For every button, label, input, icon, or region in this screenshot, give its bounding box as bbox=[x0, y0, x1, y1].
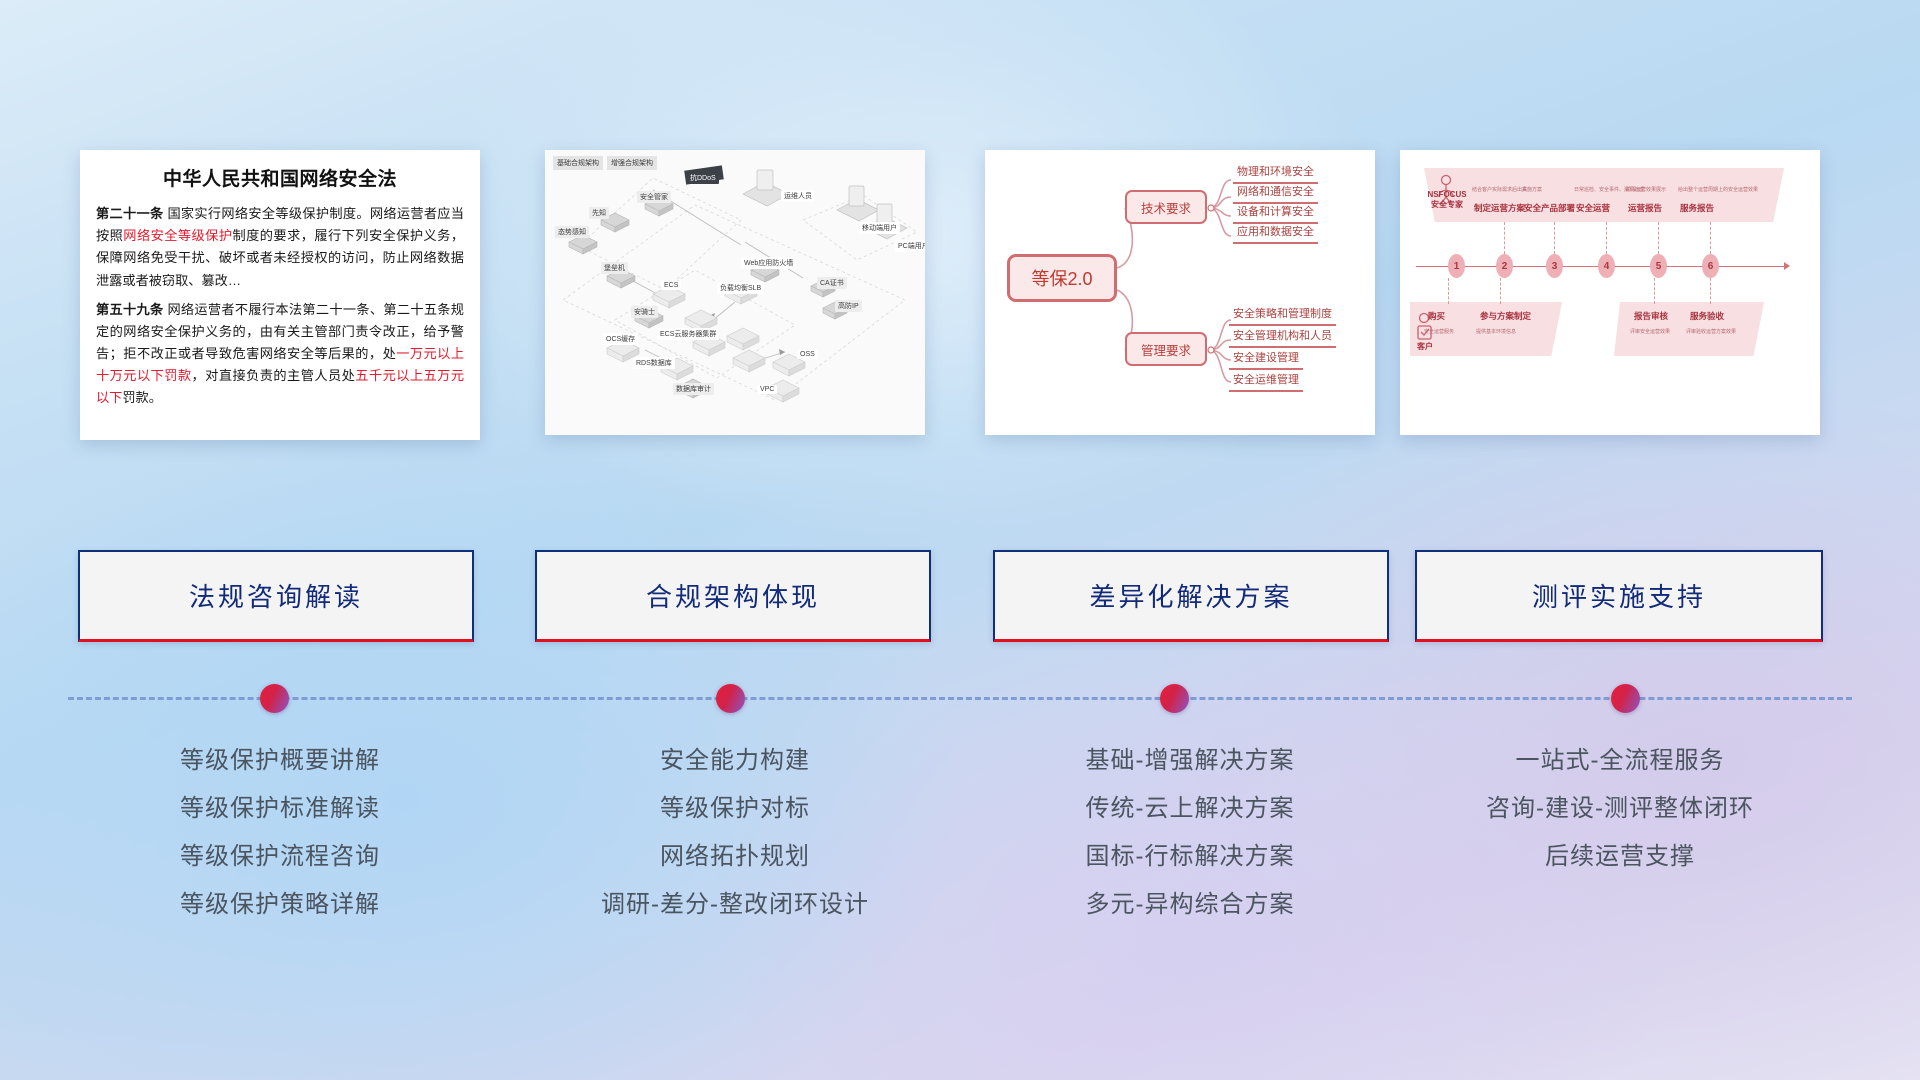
timeline-dot-1[interactable] bbox=[260, 684, 289, 713]
architecture-node-label[interactable]: 数据库审计 bbox=[673, 383, 714, 395]
detail-list-item[interactable]: 等级保护概要讲解 bbox=[80, 740, 480, 782]
detail-list-item[interactable]: 等级保护流程咨询 bbox=[80, 836, 480, 878]
detail-list-item[interactable]: 网络拓扑规划 bbox=[535, 836, 935, 878]
card-compliance-architecture[interactable]: 基础合规架构 增强合规架构 bbox=[545, 150, 925, 435]
card-dengbao-mindmap[interactable]: 等保2.0 技术要求 管理要求 物理和环境安全 网络和通信安全 设备和计算安全 … bbox=[985, 150, 1375, 435]
architecture-node-label[interactable]: 堡垒机 bbox=[601, 262, 628, 274]
tab-compliance-architecture[interactable]: 合规架构体现 bbox=[535, 550, 931, 642]
tab-label: 差异化解决方案 bbox=[1089, 577, 1292, 614]
detail-column-regulation: 等级保护概要讲解等级保护标准解读等级保护流程咨询等级保护策略详解 bbox=[80, 740, 480, 932]
detail-list-item[interactable]: 基础-增强解决方案 bbox=[980, 740, 1400, 782]
card-nsfocus-timeline[interactable]: NSFOCUS安全专家 客户 12制定运营方案结合客户实际需求后出具3安全产品部… bbox=[1400, 150, 1820, 435]
detail-column-solution: 基础-增强解决方案传统-云上解决方案国标-行标解决方案多元-异构综合方案 bbox=[980, 740, 1400, 932]
architecture-node-label[interactable]: ECS云服务器集群 bbox=[657, 328, 719, 340]
nsfocus-customer-step-subtitle: 评审验收运营方案效果 bbox=[1686, 328, 1736, 335]
nsfocus-customer-step-title: 报告审核 bbox=[1634, 310, 1668, 322]
nsfocus-step-dot[interactable]: 1 bbox=[1448, 254, 1465, 278]
mindmap-leaf[interactable]: 安全运维管理 bbox=[1229, 374, 1303, 392]
nsfocus-customer-step-title: 服务验收 bbox=[1690, 310, 1724, 322]
mindmap-branch-technical[interactable]: 技术要求 bbox=[1125, 190, 1207, 224]
architecture-node-label[interactable]: ECS bbox=[661, 281, 681, 290]
detail-list-item[interactable]: 等级保护对标 bbox=[535, 788, 935, 830]
nsfocus-step-tick bbox=[1504, 222, 1505, 254]
detail-list-item[interactable]: 多元-异构综合方案 bbox=[980, 884, 1400, 926]
nsfocus-step-title: 安全运营 bbox=[1576, 202, 1610, 214]
nsfocus-customer-step-tick bbox=[1710, 278, 1711, 304]
timeline-dashed-line bbox=[68, 697, 1852, 700]
architecture-node-label[interactable]: OSS bbox=[797, 350, 818, 359]
law-highlight-text: 网络安全等级保护 bbox=[123, 228, 232, 243]
nsfocus-step-tick bbox=[1606, 222, 1607, 254]
law-article-label: 第五十九条 bbox=[96, 302, 163, 317]
nsfocus-step-subtitle: 阶段运营效果展示 bbox=[1626, 186, 1666, 193]
nsfocus-step-dot[interactable]: 4 bbox=[1598, 254, 1615, 278]
nsfocus-step-title: 运营报告 bbox=[1628, 202, 1662, 214]
timeline-dot-2[interactable] bbox=[716, 684, 745, 713]
mindmap-leaf[interactable]: 应用和数据安全 bbox=[1233, 226, 1318, 244]
mindmap-leaf[interactable]: 安全建设管理 bbox=[1229, 352, 1303, 370]
expert-role-label: NSFOCUS安全专家 bbox=[1424, 190, 1470, 210]
architecture-node-label[interactable]: OCS缓存 bbox=[603, 333, 638, 345]
architecture-node-label[interactable]: 移动端用户 bbox=[859, 222, 900, 234]
architecture-node-label[interactable]: 先知 bbox=[589, 207, 609, 219]
nsfocus-step-title: 制定运营方案 bbox=[1474, 202, 1525, 214]
detail-list-item[interactable]: 一站式-全流程服务 bbox=[1410, 740, 1830, 782]
mindmap-leaf[interactable]: 网络和通信安全 bbox=[1233, 186, 1318, 204]
law-text: ，对直接负责的主管人员处 bbox=[192, 368, 356, 383]
nsfocus-step-tick bbox=[1658, 222, 1659, 254]
law-text: 罚款。 bbox=[122, 390, 162, 405]
law-title: 中华人民共和国网络安全法 bbox=[96, 164, 464, 191]
detail-column-architecture: 安全能力构建等级保护对标网络拓扑规划调研-差分-整改闭环设计 bbox=[535, 740, 935, 932]
nsfocus-step-title: 安全产品部署 bbox=[1524, 202, 1575, 214]
nsfocus-customer-step-tick bbox=[1500, 278, 1501, 304]
mindmap-leaf[interactable]: 安全管理机构和人员 bbox=[1229, 330, 1336, 348]
progress-timeline bbox=[0, 668, 1920, 708]
detail-list-item[interactable]: 安全能力构建 bbox=[535, 740, 935, 782]
tab-regulation-consulting[interactable]: 法规咨询解读 bbox=[78, 550, 474, 642]
nsfocus-step-dot[interactable]: 2 bbox=[1496, 254, 1513, 278]
nsfocus-customer-step-subtitle: 安全运营服务 bbox=[1424, 328, 1454, 335]
nsfocus-step-subtitle: 实施方案 bbox=[1522, 186, 1542, 193]
tab-label: 法规咨询解读 bbox=[189, 577, 363, 614]
detail-list-item[interactable]: 调研-差分-整改闭环设计 bbox=[535, 884, 935, 926]
tab-label: 测评实施支持 bbox=[1532, 577, 1706, 614]
mindmap-root-node[interactable]: 等保2.0 bbox=[1007, 254, 1117, 302]
expert-role-line: 安全专家 bbox=[1424, 200, 1470, 210]
architecture-node-label[interactable]: RDS数据库 bbox=[633, 357, 675, 369]
nsfocus-customer-step-title: 参与方案制定 bbox=[1480, 310, 1531, 322]
nsfocus-service-flow: NSFOCUS安全专家 客户 12制定运营方案结合客户实际需求后出具3安全产品部… bbox=[1400, 150, 1820, 435]
mindmap-leaf[interactable]: 安全策略和管理制度 bbox=[1229, 308, 1336, 326]
detail-list-item[interactable]: 等级保护标准解读 bbox=[80, 788, 480, 830]
architecture-diagram: 基础合规架构 增强合规架构 bbox=[545, 150, 925, 435]
mindmap-leaf[interactable]: 物理和环境安全 bbox=[1233, 166, 1318, 184]
detail-list-item[interactable]: 等级保护策略详解 bbox=[80, 884, 480, 926]
nsfocus-customer-step-subtitle: 提供基本环境信息 bbox=[1476, 328, 1516, 335]
detail-list-item[interactable]: 传统-云上解决方案 bbox=[980, 788, 1400, 830]
detail-list-item[interactable]: 国标-行标解决方案 bbox=[980, 836, 1400, 878]
timeline-dot-3[interactable] bbox=[1160, 684, 1189, 713]
service-tab-row: 法规咨询解读 合规架构体现 差异化解决方案 测评实施支持 bbox=[0, 550, 1920, 642]
mindmap: 等保2.0 技术要求 管理要求 物理和环境安全 网络和通信安全 设备和计算安全 … bbox=[985, 150, 1375, 435]
nsfocus-customer-step-subtitle: 评审安全运营效果 bbox=[1630, 328, 1670, 335]
timeline-dot-4[interactable] bbox=[1611, 684, 1640, 713]
card-cybersecurity-law[interactable]: 中华人民共和国网络安全法 第二十一条 国家实行网络安全等级保护制度。网络运营者应… bbox=[80, 150, 480, 440]
architecture-node-label[interactable]: 负载均衡SLB bbox=[717, 282, 764, 294]
nsfocus-customer-step-tick bbox=[1448, 278, 1449, 304]
architecture-node-label[interactable]: 高防IP bbox=[835, 300, 862, 312]
architecture-node-label[interactable]: PC端用户 bbox=[895, 240, 925, 252]
architecture-node-label[interactable]: 安全管家 bbox=[637, 191, 671, 203]
nsfocus-step-title: 服务报告 bbox=[1680, 202, 1714, 214]
mindmap-leaf[interactable]: 设备和计算安全 bbox=[1233, 206, 1318, 224]
law-article: 第二十一条 国家实行网络安全等级保护制度。网络运营者应当按照网络安全等级保护制度… bbox=[96, 203, 464, 292]
nsfocus-step-dot[interactable]: 3 bbox=[1546, 254, 1563, 278]
law-document: 中华人民共和国网络安全法 第二十一条 国家实行网络安全等级保护制度。网络运营者应… bbox=[80, 150, 480, 425]
nsfocus-step-subtitle: 结合客户实际需求后出具 bbox=[1472, 186, 1527, 193]
tab-differentiated-solution[interactable]: 差异化解决方案 bbox=[993, 550, 1389, 642]
nsfocus-customer-step-tick bbox=[1654, 278, 1655, 304]
architecture-node-label[interactable]: 抗DDoS bbox=[687, 172, 719, 184]
nsfocus-step-tick bbox=[1554, 222, 1555, 254]
nsfocus-customer-step-title: 购买 bbox=[1428, 310, 1445, 322]
architecture-node-label[interactable]: 态势感知 bbox=[555, 226, 589, 238]
mindmap-branch-management[interactable]: 管理要求 bbox=[1125, 332, 1207, 366]
law-article-label: 第二十一条 bbox=[96, 206, 163, 221]
detail-list-item[interactable]: 咨询-建设-测评整体闭环 bbox=[1410, 788, 1830, 830]
architecture-node-label[interactable]: VPC bbox=[757, 385, 777, 394]
nsfocus-step-dot[interactable]: 6 bbox=[1702, 254, 1719, 278]
law-article: 第五十九条 网络运营者不履行本法第二十一条、第二十五条规定的网络安全保护义务的，… bbox=[96, 299, 464, 410]
detail-list-item[interactable]: 后续运营支撑 bbox=[1410, 836, 1830, 878]
nsfocus-step-subtitle: 给出整个运营周期上的安全运营效果 bbox=[1678, 186, 1758, 193]
slide-canvas: 中华人民共和国网络安全法 第二十一条 国家实行网络安全等级保护制度。网络运营者应… bbox=[0, 0, 1920, 1080]
tab-assessment-support[interactable]: 测评实施支持 bbox=[1415, 550, 1823, 642]
architecture-node-label[interactable]: 运维人员 bbox=[781, 190, 815, 202]
architecture-node-label[interactable]: 安骑士 bbox=[631, 306, 658, 318]
law-body: 第二十一条 国家实行网络安全等级保护制度。网络运营者应当按照网络安全等级保护制度… bbox=[96, 203, 464, 410]
tab-label: 合规架构体现 bbox=[646, 577, 820, 614]
architecture-node-label[interactable]: CA证书 bbox=[817, 277, 847, 289]
architecture-node-label[interactable]: Web应用防火墙 bbox=[741, 257, 796, 269]
detail-column-assessment: 一站式-全流程服务咨询-建设-测评整体闭环后续运营支撑 bbox=[1410, 740, 1830, 884]
expert-role-line: NSFOCUS bbox=[1424, 190, 1470, 200]
service-detail-lists: 等级保护概要讲解等级保护标准解读等级保护流程咨询等级保护策略详解 安全能力构建等… bbox=[0, 740, 1920, 990]
timeline-arrow-icon bbox=[1784, 262, 1790, 270]
nsfocus-step-tick bbox=[1710, 222, 1711, 254]
nsfocus-step-dot[interactable]: 5 bbox=[1650, 254, 1667, 278]
customer-role-label: 客户 bbox=[1410, 342, 1440, 352]
preview-cards-row: 中华人民共和国网络安全法 第二十一条 国家实行网络安全等级保护制度。网络运营者应… bbox=[0, 150, 1920, 450]
